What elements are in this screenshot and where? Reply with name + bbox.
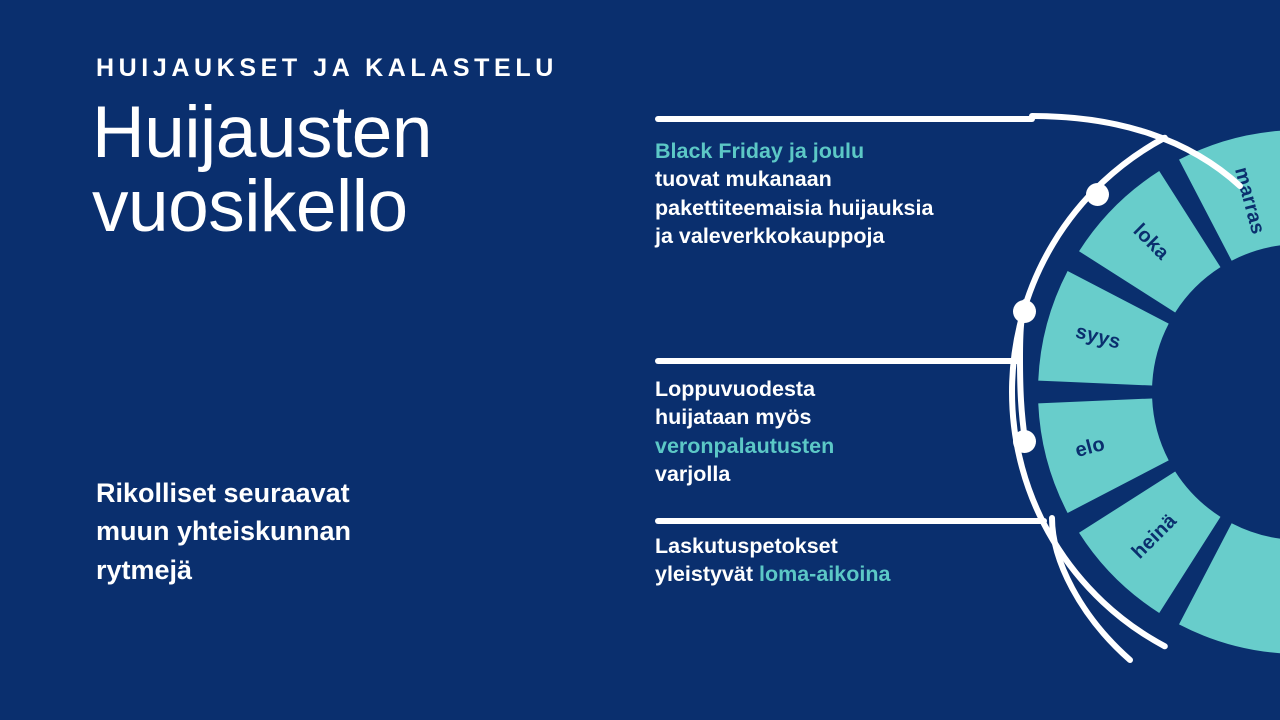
leader-rule-2 [655, 358, 1023, 364]
leader-curve-1 [1032, 116, 1240, 186]
callout-1-highlight: Black Friday ja joulu [655, 139, 864, 163]
wheel-segment [1038, 398, 1168, 513]
wheel-segment-group [1038, 130, 1280, 654]
callout-3-highlight: loma-aikoina [759, 562, 890, 586]
wheel-month-label: marras [1230, 165, 1269, 237]
callout-2-lead: Loppuvuodesta huijataan myös [655, 377, 815, 429]
connector-dot-1 [1086, 183, 1109, 206]
wheel-month-label: heinä [1128, 509, 1182, 563]
leader-rule-3 [655, 518, 1047, 524]
slide-canvas: HUIJAUKSET JA KALASTELU Huijausten vuosi… [0, 0, 1280, 720]
wheel-guide-group [1012, 116, 1240, 660]
wheel-month-label: syys [1073, 321, 1123, 354]
callout-2-body: varjolla [655, 462, 730, 486]
eyebrow-label: HUIJAUKSET JA KALASTELU [96, 54, 558, 83]
connector-dot-2 [1013, 300, 1036, 323]
leader-curve-4 [1052, 518, 1130, 660]
callout-veronpalautukset: Loppuvuodesta huijataan myös veronpalaut… [655, 375, 834, 489]
leader-curve-3 [1020, 358, 1025, 440]
wheel-label-group: joulumarraslokasyyseloheinä [1073, 164, 1280, 563]
tagline-text: Rikolliset seuraavat muun yhteiskunnan r… [96, 474, 351, 589]
callout-2-highlight: veronpalautusten [655, 434, 834, 458]
callout-laskutuspetokset: Laskutuspetokset yleistyvät loma-aikoina [655, 532, 890, 589]
connector-dot-3 [1013, 430, 1036, 453]
callout-1-body: tuovat mukanaan pakettiteemaisia huijauk… [655, 167, 933, 248]
wheel-segment [1079, 472, 1220, 613]
wheel-month-label: loka [1129, 220, 1174, 265]
wheel-outer-guide-arc [1012, 138, 1165, 647]
page-title: Huijausten vuosikello [92, 96, 432, 245]
callout-black-friday: Black Friday ja joulu tuovat mukanaan pa… [655, 137, 933, 251]
wheel-segment [1038, 271, 1168, 386]
wheel-segment [1179, 130, 1280, 260]
wheel-month-label: elo [1073, 433, 1107, 462]
wheel-segment [1179, 523, 1280, 653]
leader-rule-1 [655, 116, 1035, 122]
